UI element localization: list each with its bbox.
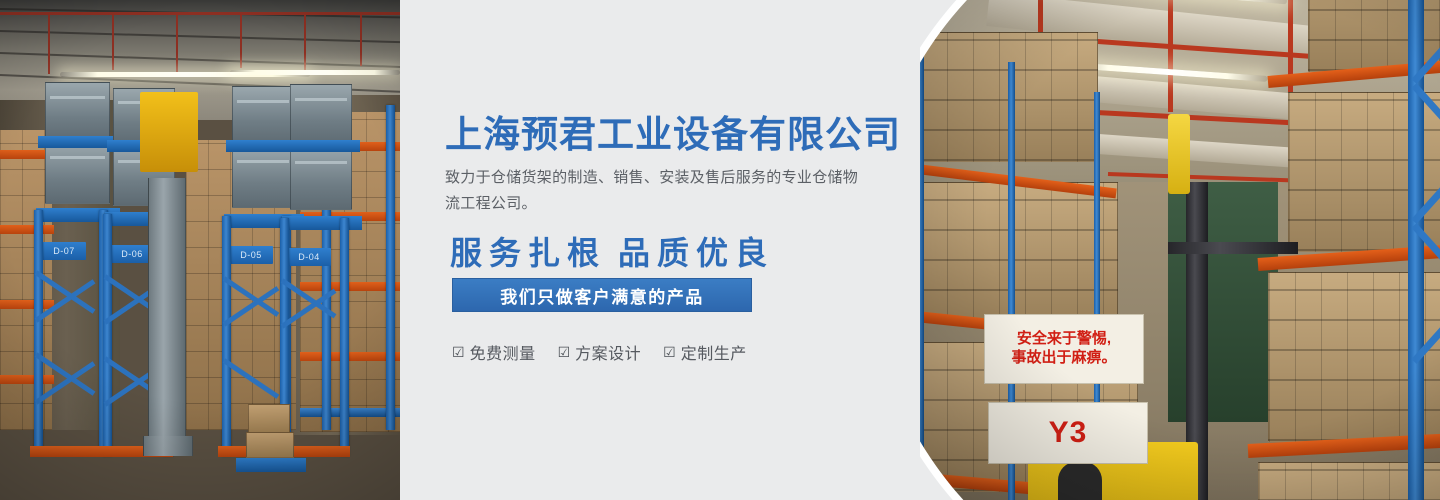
feature-list: ☑ 免费测量 ☑ 方案设计 ☑ 定制生产 [452,340,747,364]
slogan: 服务扎根品质优良 [450,228,774,274]
slogan-left: 服务扎根 [450,235,606,271]
feature-label: 方案设计 [575,340,641,364]
hero-banner: D-07 D-06 [0,0,1440,500]
company-description: 致力于仓储货架的制造、销售、安装及售后服务的专业仓储物流工程公司。 [445,165,865,218]
checkbox-checked-icon: ☑ [452,345,465,359]
left-photo-scene: D-07 D-06 [0,0,400,500]
cta-button-label: 我们只做客户满意的产品 [500,283,704,308]
left-warehouse-photo: D-07 D-06 [0,0,400,500]
slogan-right: 品质优良 [618,235,774,271]
photo-vignette [920,0,1440,500]
feature-item-solution-design: ☑ 方案设计 [558,340,642,364]
feature-item-free-measure: ☑ 免费测量 [452,340,536,364]
feature-label: 定制生产 [681,340,747,364]
cta-button[interactable]: 我们只做客户满意的产品 [452,278,752,312]
banner-content: 上海预君工业设备有限公司 致力于仓储货架的制造、销售、安装及售后服务的专业仓储物… [440,0,960,500]
right-warehouse-photo: 安全来于警惕, 事故出于麻痹。 Y3 [920,0,1440,500]
right-warehouse-photo-wrapper: 安全来于警惕, 事故出于麻痹。 Y3 [920,0,1440,500]
checkbox-checked-icon: ☑ [663,345,676,359]
checkbox-checked-icon: ☑ [558,345,571,359]
photo-vignette [0,0,400,500]
feature-item-custom-manufacture: ☑ 定制生产 [663,340,747,364]
feature-label: 免费测量 [470,340,536,364]
page-title: 上海预君工业设备有限公司 [445,104,901,158]
right-photo-scene: 安全来于警惕, 事故出于麻痹。 Y3 [920,0,1440,500]
